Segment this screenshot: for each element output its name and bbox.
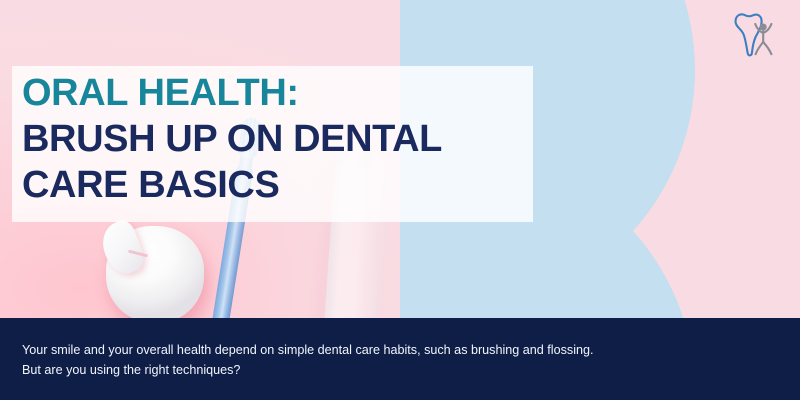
footer-text-line-2: But are you using the right techniques? xyxy=(22,360,762,380)
footer-strip: Your smile and your overall health depen… xyxy=(0,318,800,400)
dental-floss-container xyxy=(106,226,204,320)
dental-floss-strand xyxy=(128,250,148,258)
headline-block: ORAL HEALTH: BRUSH UP ON DENTAL CARE BAS… xyxy=(22,70,542,208)
footer-text-line-1: Your smile and your overall health depen… xyxy=(22,340,762,360)
oral-health-banner: ORAL HEALTH: BRUSH UP ON DENTAL CARE BAS… xyxy=(0,0,800,400)
headline-line-1: ORAL HEALTH: xyxy=(22,70,542,116)
footer-text: Your smile and your overall health depen… xyxy=(22,340,762,380)
dental-floss-lid xyxy=(96,217,149,279)
tooth-person-logo-icon xyxy=(727,11,785,63)
headline-line-2: BRUSH UP ON DENTAL xyxy=(22,116,542,162)
headline-line-3: CARE BASICS xyxy=(22,162,542,208)
